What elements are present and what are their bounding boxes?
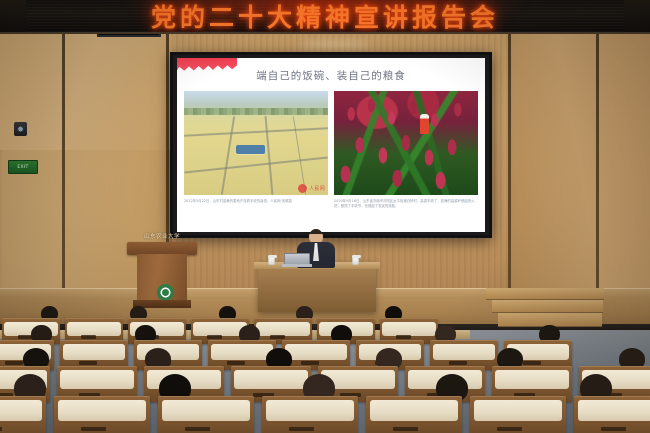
seat-slot — [301, 361, 319, 365]
speaker-table — [258, 262, 376, 312]
slide-captions: 2022年5月22日，山东村金黄的麦地汗流着丰收的喜悦。人民网 张慎摄 2020… — [184, 199, 478, 221]
seat-cushion — [234, 370, 308, 389]
seat-cushion — [433, 344, 496, 360]
projection-screen: 端自己的饭碗、装自己的粮食 人民网 — [170, 52, 492, 238]
seat-slot — [81, 335, 96, 339]
wall-seam-3 — [508, 0, 511, 330]
water-cup-2 — [352, 256, 359, 265]
watermark-dot-icon — [298, 184, 307, 193]
seat-cushion — [495, 370, 569, 389]
seat-cushion — [382, 322, 435, 336]
ceiling-light-glow — [300, 40, 370, 50]
seat-slot — [497, 427, 522, 431]
seat-cushion — [266, 400, 354, 421]
lecture-hall-photo: EXIT 党的二十大精神宣讲报告会 端自己的饭碗、装自己的粮食 — [0, 0, 650, 433]
sorghum-field-photo — [334, 91, 478, 195]
security-camera-icon — [14, 122, 27, 136]
seat-cushion — [578, 400, 650, 421]
water-cup-1 — [268, 256, 275, 265]
seat-slot — [227, 361, 245, 365]
audience-seat — [366, 396, 462, 433]
slide-image-pair: 人民网 — [184, 91, 478, 195]
wall-seam-1 — [62, 0, 65, 330]
farm-road-2 — [184, 156, 327, 173]
exit-sign-label: EXIT — [17, 165, 28, 170]
sorghum-image — [334, 91, 478, 195]
farmland-image: 人民网 — [184, 91, 328, 195]
audience-seat — [574, 396, 650, 433]
lectern-body — [137, 254, 187, 302]
farm-road-3 — [221, 116, 235, 194]
seat-cushion — [63, 344, 126, 360]
banner-endcap-right — [624, 0, 650, 34]
stage-steps — [486, 288, 604, 330]
led-banner: 党的二十大精神宣讲报告会 — [0, 0, 650, 34]
left-photo-caption: 2022年5月22日，山东村金黄的麦地汗流着丰收的喜悦。人民网 张慎摄 — [184, 199, 328, 221]
seat-cushion — [474, 400, 562, 421]
wall-seam-4 — [596, 0, 599, 330]
slide-title: 端自己的饭碗、装自己的粮食 — [177, 68, 485, 83]
laptop-keyboard — [282, 264, 312, 267]
seat-cushion — [211, 344, 274, 360]
seat-slot — [5, 361, 23, 365]
seat-cushion — [60, 370, 134, 389]
audience-seat — [262, 396, 358, 433]
seat-slot — [185, 427, 210, 431]
seat-cushion — [285, 344, 348, 360]
peoples-daily-watermark: 人民网 — [298, 184, 325, 193]
banner-endcap-left — [0, 0, 26, 34]
seat-slot — [393, 427, 418, 431]
aerial-farmland-photo: 人民网 — [184, 91, 328, 195]
farm-road-1 — [184, 127, 328, 136]
cup-lid-1 — [268, 255, 277, 258]
banner-title: 党的二十大精神宣讲报告会 — [151, 0, 499, 34]
audience-row — [0, 396, 650, 433]
lectern-university-name: 山东农业大学 — [127, 232, 197, 240]
laptop-on-table — [282, 253, 312, 267]
seat-cushion — [162, 400, 250, 421]
university-seal-icon — [157, 284, 174, 301]
farm-treeline — [184, 108, 328, 115]
seat-cushion — [58, 400, 146, 421]
seat-cushion — [256, 322, 309, 336]
seat-cushion — [67, 322, 120, 336]
farm-pond — [236, 145, 265, 154]
seat-slot — [601, 427, 626, 431]
seat-slot — [0, 427, 2, 431]
seat-slot — [449, 361, 467, 365]
audience-seat — [0, 396, 46, 433]
presentation-slide: 端自己的饭碗、装自己的粮食 人民网 — [177, 58, 485, 232]
stage-step-2 — [492, 300, 603, 313]
seat-slot — [81, 427, 106, 431]
audience-seat — [158, 396, 254, 433]
watermark-label: 人民网 — [309, 185, 325, 192]
audience-seat — [470, 396, 566, 433]
seat-cushion — [0, 400, 42, 421]
cup-lid-2 — [352, 255, 361, 258]
lectern: 山东农业大学 — [127, 232, 197, 310]
seat-slot — [270, 335, 285, 339]
right-wall — [510, 0, 650, 330]
seat-slot — [79, 361, 97, 365]
seat-slot — [207, 335, 222, 339]
seat-cushion — [370, 400, 458, 421]
audience-seat — [54, 396, 150, 433]
sorghum-grain-heads — [334, 91, 478, 195]
seat-slot — [396, 335, 411, 339]
table-skirt — [258, 269, 376, 312]
right-photo-caption: 2020年9月16日，山东省济南市济阳区太平街道白桥村，高粱丰收了，如海的高粱秆… — [334, 199, 478, 221]
farm-road-4 — [264, 116, 272, 195]
farmer-in-field — [420, 114, 429, 134]
seat-slot — [289, 427, 314, 431]
stage-step-1 — [486, 288, 604, 300]
emergency-exit-sign: EXIT — [8, 160, 38, 174]
seat-slot — [523, 361, 541, 365]
